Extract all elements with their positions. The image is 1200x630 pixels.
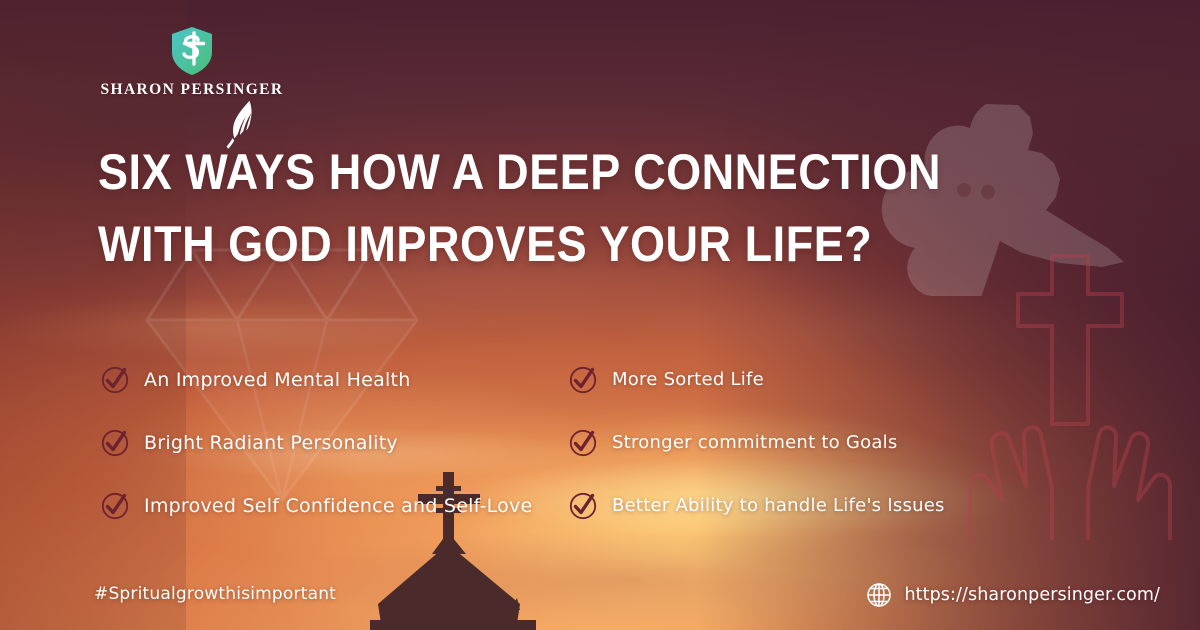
check-circle-icon <box>568 365 598 395</box>
list-item: Stronger commitment to Goals <box>568 411 1100 474</box>
list-item-label: More Sorted Life <box>612 369 764 390</box>
check-circle-icon <box>568 491 598 521</box>
brand-logo[interactable]: SHARON PERSINGER <box>92 26 292 99</box>
globe-icon <box>866 582 892 608</box>
list-item-label: Bright Radiant Personality <box>144 432 398 454</box>
hashtag: #Spritualgrowthisimportant <box>94 584 336 604</box>
brand-name: SHARON PERSINGER <box>100 81 283 99</box>
poster-canvas: SHARON PERSINGER Six Ways How A Deep Con… <box>0 0 1200 630</box>
list-item: Better Ability to handle Life's Issues <box>568 474 1100 537</box>
headline-line-1: Six Ways How A Deep Connection <box>98 136 818 208</box>
check-circle-icon <box>100 428 130 458</box>
website-url-text: https://sharonpersinger.com/ <box>904 585 1160 605</box>
benefits-checklist: An Improved Mental Health More Sorted Li… <box>100 348 1100 537</box>
list-item: Bright Radiant Personality <box>100 411 568 474</box>
list-item-label: Better Ability to handle Life's Issues <box>612 495 945 516</box>
list-item-label: Stronger commitment to Goals <box>612 432 898 453</box>
list-item: Improved Self Confidence and Self-Love <box>100 474 568 537</box>
page-title: Six Ways How A Deep Connection With God … <box>98 136 818 280</box>
check-circle-icon <box>100 365 130 395</box>
headline-line-2: With God Improves Your Life? <box>98 208 818 280</box>
check-circle-icon <box>100 491 130 521</box>
website-link[interactable]: https://sharonpersinger.com/ <box>866 582 1160 608</box>
list-item-label: An Improved Mental Health <box>144 369 410 391</box>
list-item: More Sorted Life <box>568 348 1100 411</box>
list-item-label: Improved Self Confidence and Self-Love <box>144 495 532 517</box>
list-item: An Improved Mental Health <box>100 348 568 411</box>
shield-dollar-cross-icon <box>170 26 214 76</box>
check-circle-icon <box>568 428 598 458</box>
